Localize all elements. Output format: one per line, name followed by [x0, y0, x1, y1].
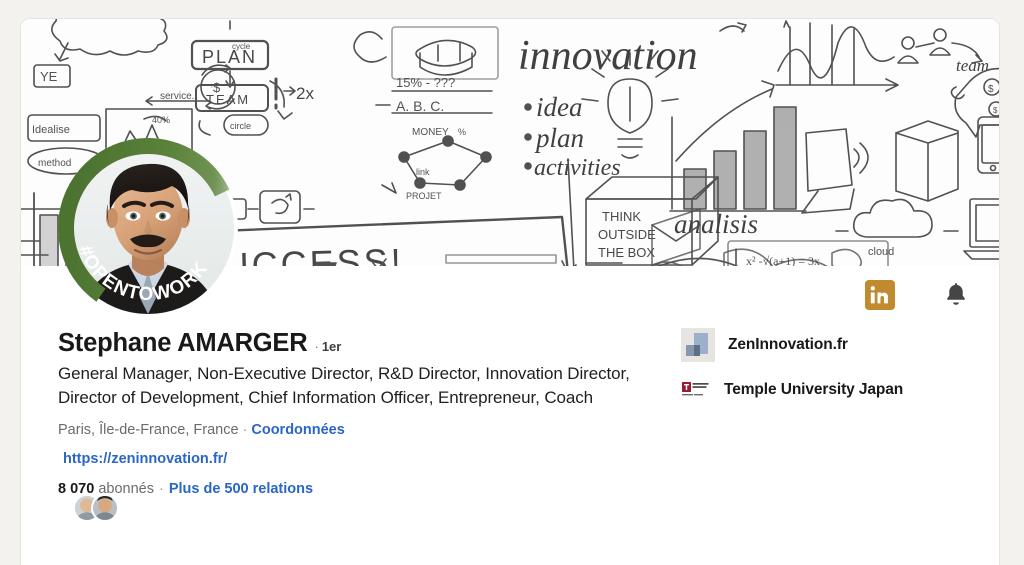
- svg-text:cycle: cycle: [232, 42, 251, 51]
- svg-text:%: %: [458, 127, 466, 137]
- contact-info-link[interactable]: Coordonnées: [251, 422, 344, 438]
- profile-body: #OPENTOWORK: [21, 266, 999, 565]
- companies-column: ZenInnovation.fr T: [681, 328, 971, 418]
- svg-text:service..: service..: [160, 91, 197, 102]
- zeninnovation-logo-icon: [681, 328, 715, 362]
- notifications-bell-icon[interactable]: [941, 280, 971, 310]
- page-title: Stephane AMARGER: [58, 328, 307, 359]
- website-row: https://zeninnovation.fr/: [58, 449, 678, 469]
- degree-separator: ·: [314, 339, 318, 354]
- company-name: Temple University Japan: [724, 381, 903, 399]
- location-row: Paris, Île-de-France, France·Coordonnées: [58, 420, 678, 440]
- svg-text:OUTSIDE: OUTSIDE: [598, 227, 656, 242]
- website-link[interactable]: https://zeninnovation.fr/: [63, 451, 227, 467]
- connection-degree: ·1er: [314, 339, 341, 354]
- svg-text:A. B. C.: A. B. C.: [396, 98, 444, 114]
- linkedin-icon[interactable]: [865, 280, 895, 310]
- svg-text:PROJET: PROJET: [406, 191, 442, 201]
- profile-card: YE Idealise method 40% graph service..: [20, 18, 1000, 565]
- svg-text:innovation: innovation: [518, 33, 698, 79]
- avatar-photo: [62, 142, 234, 314]
- svg-text:activities: activities: [534, 155, 621, 181]
- top-icons: [865, 280, 971, 310]
- svg-text:$: $: [993, 106, 998, 115]
- svg-text:circle: circle: [230, 121, 251, 131]
- avatar[interactable]: [58, 138, 238, 318]
- avatar-inner: [62, 142, 234, 314]
- svg-text:plan: plan: [534, 123, 584, 153]
- svg-text:idea: idea: [536, 92, 583, 122]
- svg-text:link: link: [416, 167, 430, 177]
- location-text: Paris, Île-de-France, France: [58, 422, 239, 438]
- location-separator: ·: [243, 422, 248, 438]
- name-row: Stephane AMARGER ·1er: [58, 328, 678, 359]
- company-row-temple-university-japan[interactable]: Temple University Japan: [681, 379, 971, 401]
- svg-text:15% - ???: 15% - ???: [396, 75, 455, 90]
- profile-headline: General Manager, Non-Executive Director,…: [58, 362, 658, 410]
- svg-text:2x: 2x: [296, 84, 314, 103]
- profile-info: Stephane AMARGER ·1er General Manager, N…: [58, 328, 678, 499]
- svg-text:MONEY: MONEY: [412, 127, 449, 138]
- stats-row: 8 070 abonnés·Plus de 500 relations: [58, 479, 678, 499]
- svg-text:Idealise: Idealise: [32, 124, 70, 136]
- degree-value: 1er: [322, 339, 342, 354]
- connections-link[interactable]: Plus de 500 relations: [169, 481, 313, 497]
- stats-separator: ·: [159, 481, 164, 497]
- svg-text:YE: YE: [40, 69, 58, 84]
- svg-text:THINK: THINK: [602, 209, 641, 224]
- svg-text:$: $: [988, 84, 994, 95]
- mutual-connections-avatars[interactable]: [73, 494, 119, 522]
- svg-text:THE BOX: THE BOX: [598, 245, 655, 260]
- mutual-avatar: [91, 494, 119, 522]
- svg-text:40%: 40%: [152, 115, 170, 125]
- svg-text:cloud: cloud: [868, 246, 894, 258]
- temple-university-logo-icon: [681, 379, 711, 401]
- company-name: ZenInnovation.fr: [728, 336, 848, 354]
- svg-text:$: $: [213, 80, 221, 95]
- company-row-zeninnovation[interactable]: ZenInnovation.fr: [681, 328, 971, 362]
- linkedin-profile-page: YE Idealise method 40% graph service..: [0, 0, 1024, 565]
